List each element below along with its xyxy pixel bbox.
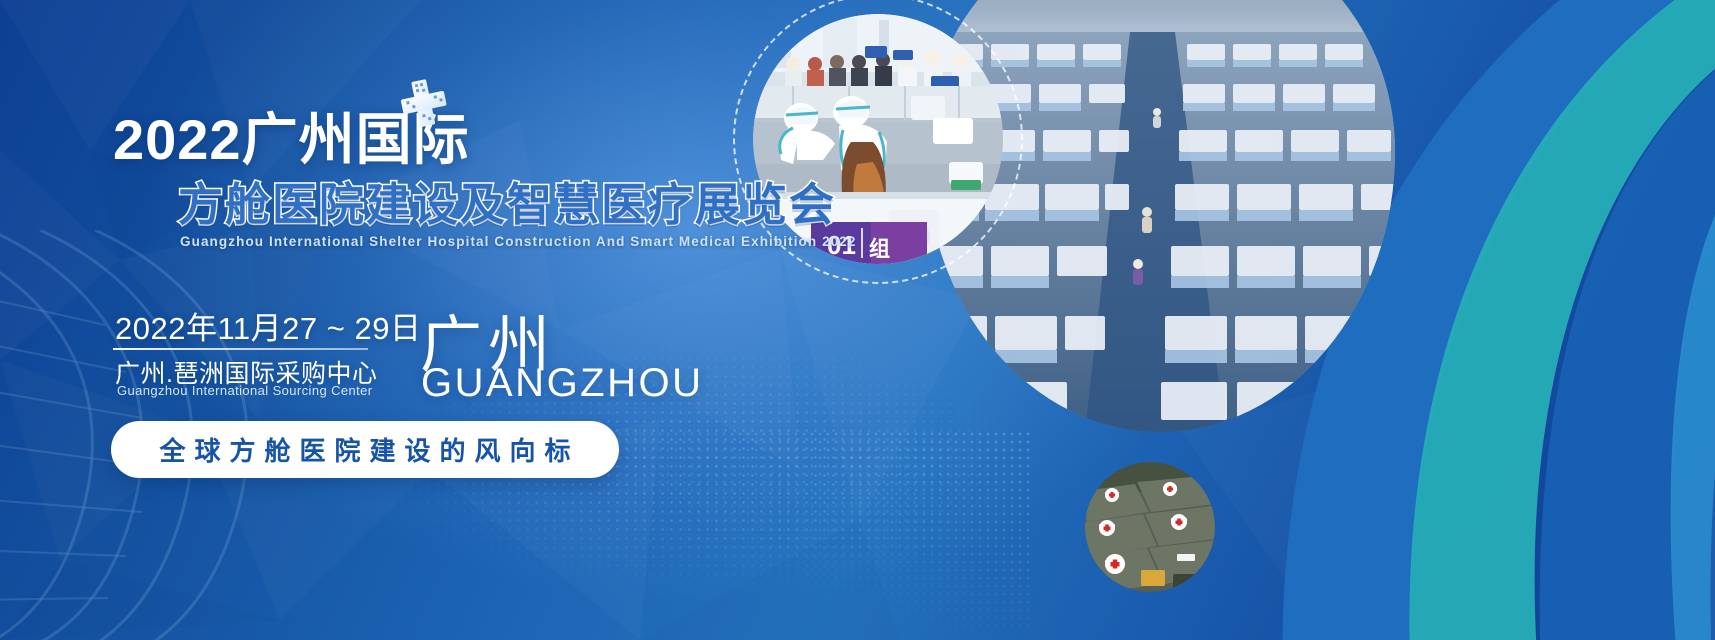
svg-text:组: 组 bbox=[869, 237, 890, 261]
medical-cross-icon bbox=[400, 78, 448, 130]
event-banner: 01 组 bbox=[0, 0, 1715, 640]
city-name-en: GUANGZHOU bbox=[421, 361, 704, 406]
page-subtitle-en: Guangzhou International Shelter Hospital… bbox=[180, 234, 857, 249]
divider bbox=[113, 348, 368, 350]
photo-field-hospital-tents bbox=[1085, 462, 1215, 592]
event-date: 2022年11月27 ~ 29日 bbox=[115, 303, 421, 348]
slogan-pill[interactable]: 全球方舱医院建设的风向标 bbox=[111, 421, 619, 478]
slogan-text: 全球方舱医院建设的风向标 bbox=[150, 431, 579, 468]
page-subtitle-cn: 方舱医院建设及智慧医疗展览会 bbox=[178, 182, 836, 227]
banner-text-block: 2022广州国际 bbox=[0, 0, 820, 640]
venue-name-en: Guangzhou International Sourcing Center bbox=[117, 383, 373, 398]
